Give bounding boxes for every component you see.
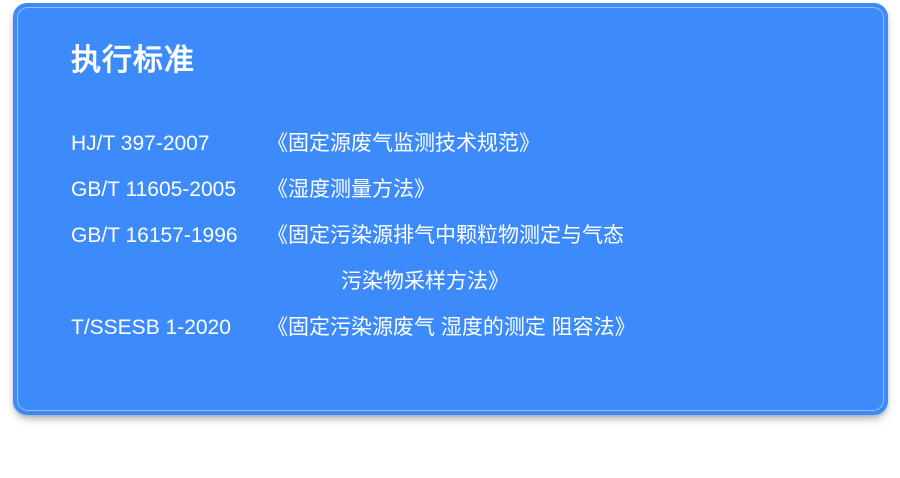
list-item: T/SSESB 1-2020 《固定污染源废气 湿度的测定 阻容法》 (71, 305, 842, 351)
standard-code: GB/T 16157-1996 (71, 213, 253, 259)
list-item-continuation: 污染物采样方法》 (71, 259, 842, 305)
page-title: 执行标准 (71, 43, 842, 79)
execution-standards-card: 执行标准 HJ/T 397-2007 《固定源废气监测技术规范》 GB/T 11… (13, 3, 888, 415)
list-item: GB/T 11605-2005 《湿度测量方法》 (71, 167, 842, 213)
list-item: HJ/T 397-2007 《固定源废气监测技术规范》 (71, 121, 842, 167)
page-root: 执行标准 HJ/T 397-2007 《固定源废气监测技术规范》 GB/T 11… (0, 0, 900, 478)
standards-list: HJ/T 397-2007 《固定源废气监测技术规范》 GB/T 11605-2… (71, 121, 842, 351)
standard-code: T/SSESB 1-2020 (71, 305, 253, 351)
standard-name: 《湿度测量方法》 (267, 167, 435, 213)
standard-name: 《固定污染源废气 湿度的测定 阻容法》 (267, 305, 636, 351)
standard-name: 《固定污染源排气中颗粒物测定与气态 (267, 213, 624, 259)
standard-name: 《固定源废气监测技术规范》 (267, 121, 540, 167)
standard-code: HJ/T 397-2007 (71, 121, 253, 167)
card-body: 执行标准 HJ/T 397-2007 《固定源废气监测技术规范》 GB/T 11… (13, 3, 888, 415)
standard-code: GB/T 11605-2005 (71, 167, 253, 213)
standard-name-continuation: 污染物采样方法》 (341, 259, 509, 305)
list-item: GB/T 16157-1996 《固定污染源排气中颗粒物测定与气态 (71, 213, 842, 259)
